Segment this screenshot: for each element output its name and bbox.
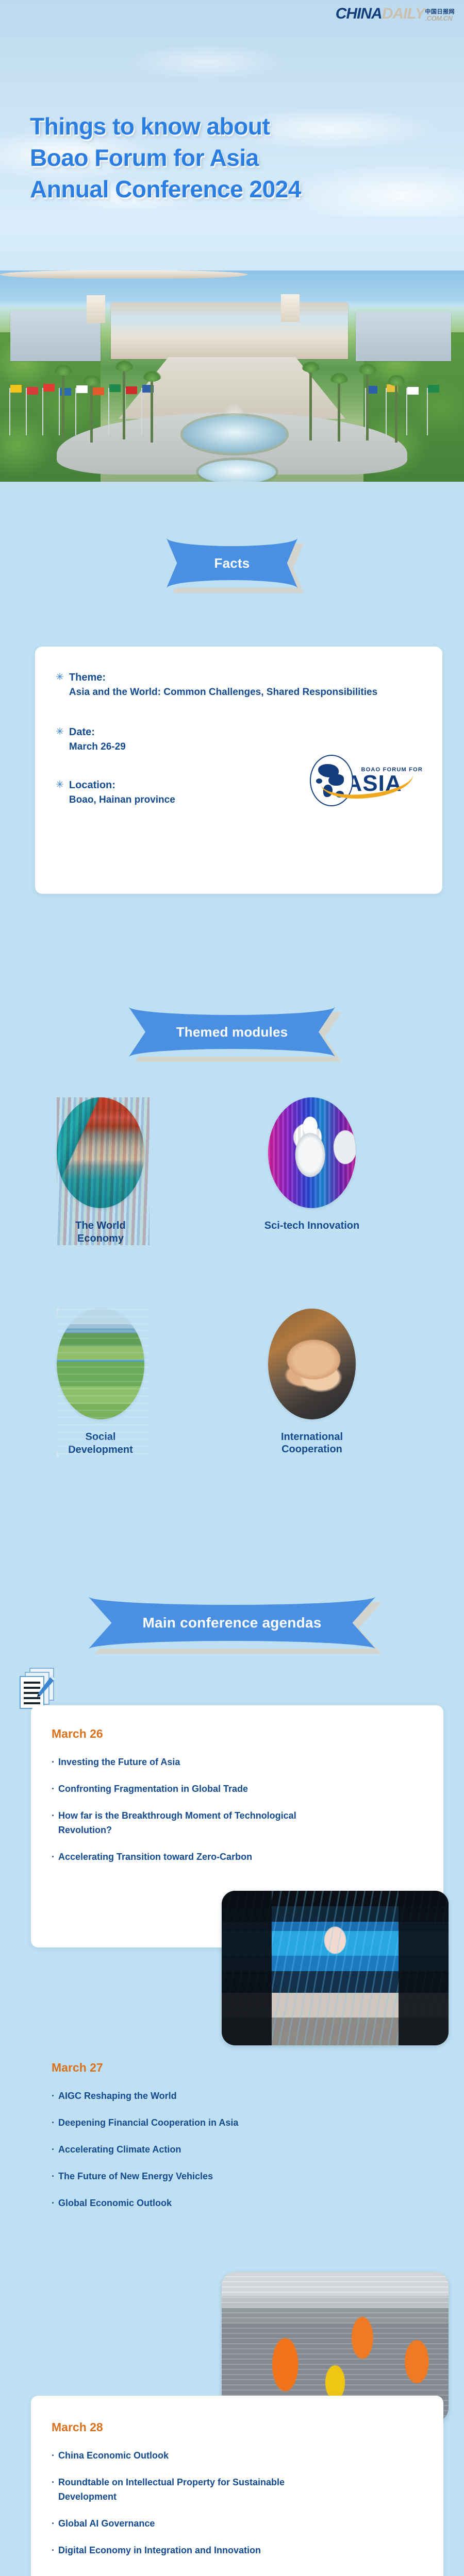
agenda-item: ·How far is the Breakthrough Moment of T… (52, 1809, 320, 1838)
bfa-logo: BOAO FORUM FOR ASIA (310, 755, 423, 806)
aigc-virtual-human-photo (222, 1891, 449, 2045)
facts-banner: Facts (0, 538, 464, 588)
world-economy-photo (57, 1097, 144, 1208)
logo-domain-text: .COM.CN (425, 15, 453, 22)
asterisk-bullet-icon: ✳ (56, 727, 64, 737)
fact-label-location: Location: (69, 778, 175, 793)
agenda-item: ·Global Economic Outlook (52, 2196, 443, 2211)
sci-tech-photo (268, 1097, 356, 1208)
agenda-item: ·China Economic Outlook (52, 2449, 412, 2463)
agendas-banner-label: Main conference agendas (143, 1615, 322, 1631)
agenda-item: ·Global AI Governance (52, 2517, 412, 2531)
building-tower-right (281, 294, 300, 322)
agenda-item: ·Digital Economy in Integration and Inno… (52, 2544, 325, 2558)
page-title: Things to know about Boao Forum for Asia… (30, 111, 437, 206)
asterisk-bullet-icon: ✳ (56, 672, 64, 682)
building-tower-left (87, 295, 105, 323)
agenda-card-march-28: March 28 ·China Economic Outlook ·Roundt… (31, 2396, 443, 2576)
fact-row-theme: ✳ Theme: Asia and the World: Common Chal… (56, 670, 417, 700)
agenda-block-march-27: March 27 ·AIGC Reshaping the World ·Deep… (52, 2061, 443, 2210)
fact-row-date: ✳ Date: March 26-29 (56, 725, 417, 755)
bfa-logo-wordmark: ASIA (346, 773, 423, 794)
agenda-item: ·Confronting Fragmentation in Global Tra… (52, 1782, 412, 1797)
agenda-day-title: March 28 (52, 2420, 412, 2434)
agenda-day-title: March 26 (52, 1727, 412, 1741)
agenda-item: ·Accelerating Climate Action (52, 2143, 443, 2157)
international-cooperation-photo (268, 1309, 356, 1419)
hero-title-line-1: Things to know about (30, 111, 437, 142)
asterisk-bullet-icon: ✳ (56, 780, 64, 790)
fact-value-theme: Asia and the World: Common Challenges, S… (69, 685, 377, 700)
conference-center-photo (0, 270, 464, 482)
facts-banner-label: Facts (214, 555, 250, 571)
module-label: InternationalCooperation (263, 1431, 361, 1456)
agenda-item: ·AIGC Reshaping the World (52, 2089, 443, 2104)
agenda-item: ·Roundtable on Intellectual Property for… (52, 2476, 325, 2504)
hero-section: CHINA DAILY 中国日报网 .COM.CN Things to know… (0, 0, 464, 495)
chinadaily-logo-header: CHINA DAILY 中国日报网 .COM.CN (336, 6, 455, 22)
facts-card: ✳ Theme: Asia and the World: Common Chal… (35, 647, 442, 894)
fact-value-location: Boao, Hainan province (69, 793, 175, 808)
modules-banner: Themed modules (0, 1007, 464, 1057)
agenda-item: ·Accelerating Transition toward Zero-Car… (52, 1850, 412, 1865)
agenda-day-title: March 27 (52, 2061, 443, 2075)
logo-daily-text: DAILY (382, 6, 425, 22)
module-sci-tech-innovation: Sci-tech Innovation (268, 1097, 361, 1232)
fact-label-date: Date: (69, 725, 126, 740)
social-development-photo (57, 1309, 144, 1419)
module-international-cooperation: InternationalCooperation (268, 1309, 361, 1456)
fact-value-date: March 26-29 (69, 740, 126, 755)
modules-banner-label: Themed modules (176, 1024, 288, 1040)
palm-trees (0, 348, 464, 482)
module-the-world-economy: The World Economy (57, 1097, 150, 1245)
module-label: Sci-tech Innovation (263, 1219, 361, 1232)
agenda-item: ·The Future of New Energy Vehicles (52, 2170, 443, 2184)
agenda-item: ·Investing the Future of Asia (52, 1755, 412, 1770)
bfa-globe-icon (310, 755, 353, 806)
hero-title-line-2: Boao Forum for Asia (30, 142, 437, 174)
building-roof (0, 270, 247, 279)
agendas-banner: Main conference agendas (0, 1597, 464, 1649)
fact-label-theme: Theme: (69, 670, 377, 685)
hero-title-line-3: Annual Conference 2024 (30, 174, 437, 205)
agenda-item: ·Deepening Financial Cooperation in Asia (52, 2116, 443, 2130)
module-social-development: Social Development (57, 1309, 150, 1456)
logo-china-text: CHINA (336, 6, 382, 22)
